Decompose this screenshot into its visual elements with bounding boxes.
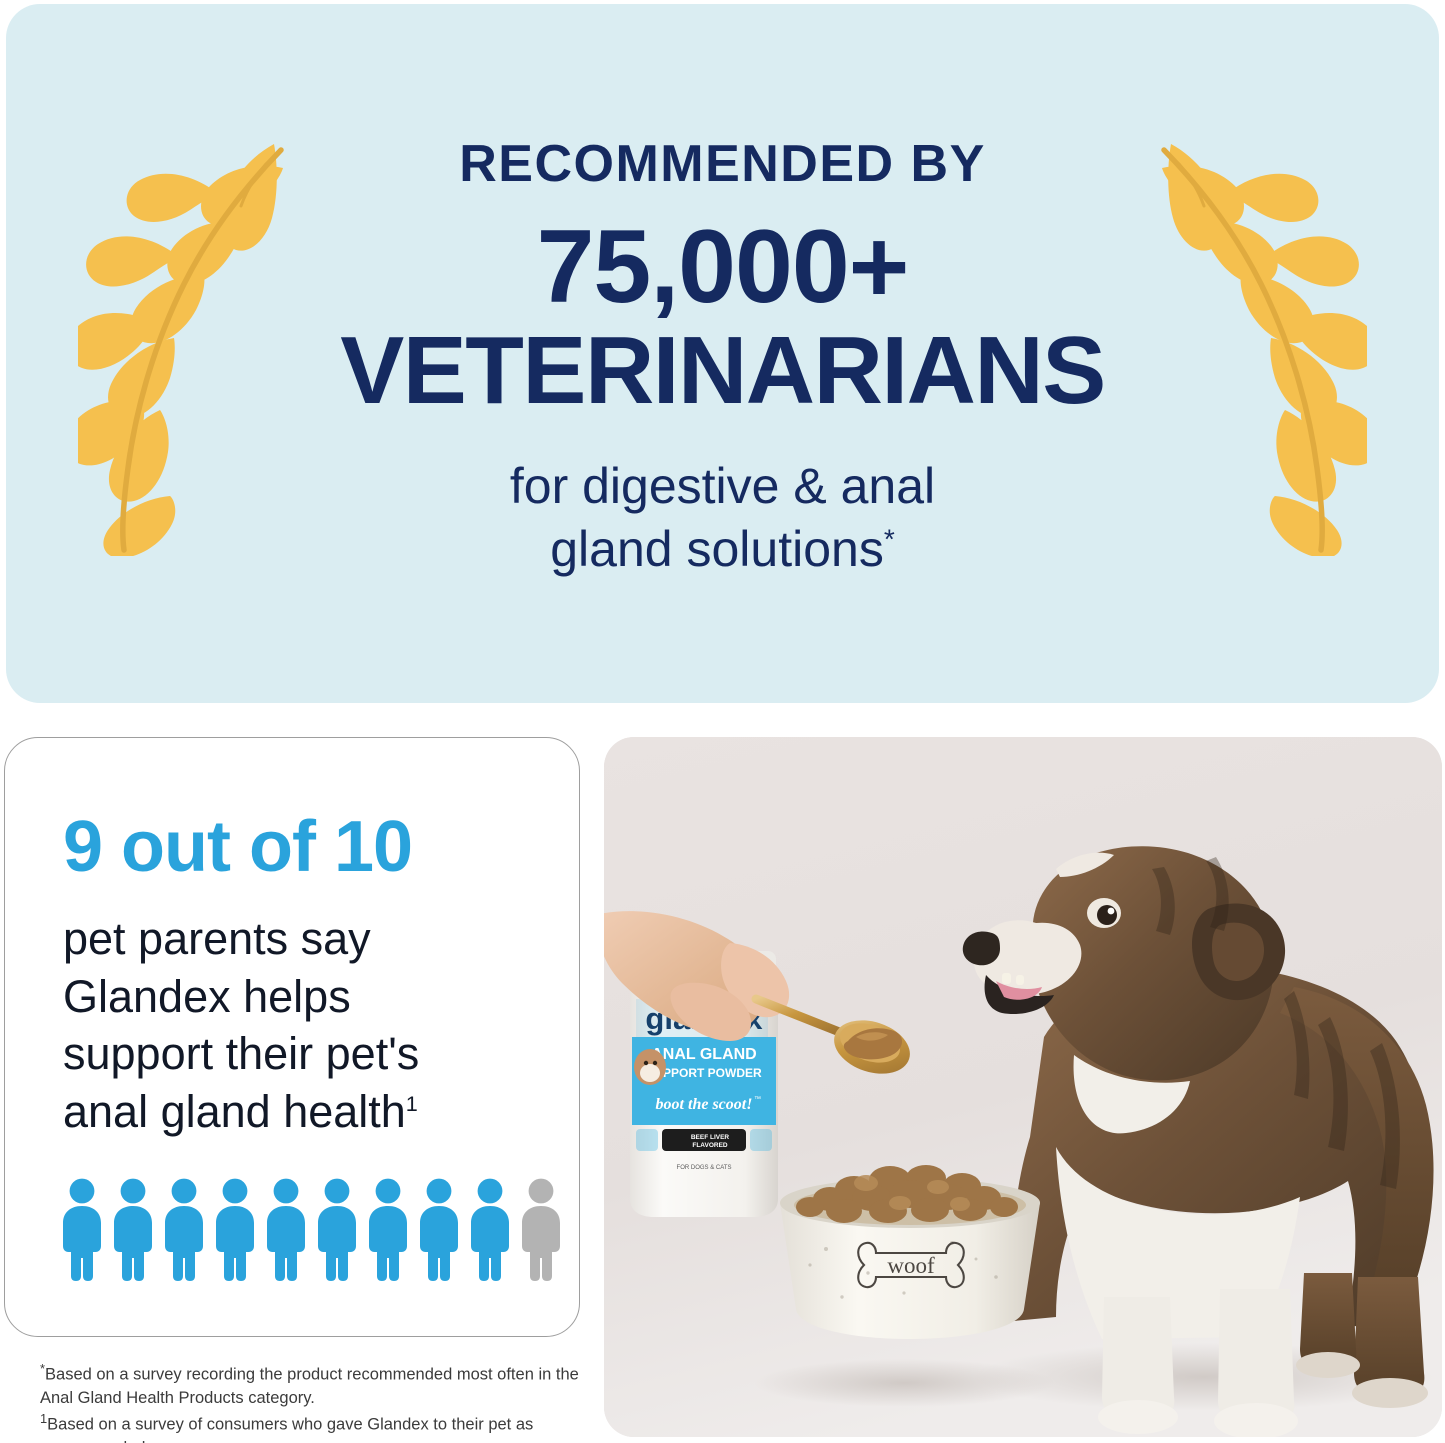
person-icon bbox=[112, 1178, 154, 1282]
svg-text:FLAVORED: FLAVORED bbox=[692, 1142, 728, 1149]
footnotes-block: *Based on a survey recording the product… bbox=[40, 1360, 580, 1443]
footnote-2-text: Based on a survey of consumers who gave … bbox=[40, 1416, 533, 1443]
hero-headline-block: RECOMMENDED BY 75,000+ VETERINARIANS for… bbox=[273, 136, 1173, 581]
stat-card: 9 out of 10 pet parents say Glandex help… bbox=[4, 737, 580, 1337]
footnote-1-text: Based on a survey recording the product … bbox=[40, 1366, 579, 1407]
svg-text:BEEF LIVER: BEEF LIVER bbox=[691, 1134, 730, 1141]
svg-text:FOR DOGS & CATS: FOR DOGS & CATS bbox=[677, 1165, 732, 1171]
hero-asterisk: * bbox=[884, 523, 895, 554]
stat-body-line-2: Glandex helps bbox=[63, 971, 351, 1022]
hero-eyebrow: RECOMMENDED BY bbox=[273, 136, 1173, 192]
stat-heading: 9 out of 10 bbox=[63, 806, 412, 888]
person-icon bbox=[520, 1178, 562, 1282]
person-icon bbox=[418, 1178, 460, 1282]
person-icon bbox=[163, 1178, 205, 1282]
person-icon bbox=[265, 1178, 307, 1282]
person-icon bbox=[367, 1178, 409, 1282]
svg-text:boot the scoot!: boot the scoot! bbox=[656, 1096, 753, 1113]
stat-body-line-3: support their pet's bbox=[63, 1028, 419, 1079]
svg-text:woof: woof bbox=[887, 1253, 935, 1278]
hero-stat-number: 75,000+ bbox=[273, 206, 1173, 329]
product-lifestyle-photo: woof Vetnique glandex ® ANAL GLAND SUPPO… bbox=[604, 737, 1442, 1437]
laurel-branch-right-icon bbox=[1157, 126, 1367, 561]
svg-text:™: ™ bbox=[754, 1096, 761, 1103]
people-pictogram bbox=[61, 1178, 562, 1282]
hero-panel: RECOMMENDED BY 75,000+ VETERINARIANS for… bbox=[6, 4, 1439, 703]
footnote-2: 1Based on a survey of consumers who gave… bbox=[40, 1410, 580, 1443]
stat-body-line-4: anal gland health bbox=[63, 1086, 406, 1137]
stat-body: pet parents say Glandex helps support th… bbox=[63, 910, 533, 1140]
stat-body-line-1: pet parents say bbox=[63, 913, 371, 964]
hero-stat-label: VETERINARIANS bbox=[273, 323, 1173, 419]
person-icon bbox=[469, 1178, 511, 1282]
infographic-page: RECOMMENDED BY 75,000+ VETERINARIANS for… bbox=[0, 0, 1445, 1443]
footnote-1: *Based on a survey recording the product… bbox=[40, 1360, 580, 1410]
hero-subline-1: for digestive & anal bbox=[510, 458, 935, 514]
laurel-branch-left-icon bbox=[78, 126, 288, 561]
stat-body-footnote-marker: 1 bbox=[406, 1091, 418, 1116]
svg-text:ANAL GLAND: ANAL GLAND bbox=[651, 1046, 756, 1063]
person-icon bbox=[61, 1178, 103, 1282]
person-icon bbox=[316, 1178, 358, 1282]
hero-subline-2: gland solutions bbox=[550, 521, 884, 577]
hero-subline: for digestive & anal gland solutions* bbox=[273, 455, 1173, 581]
person-icon bbox=[214, 1178, 256, 1282]
dog-food-bowl: woof bbox=[780, 1165, 1040, 1339]
